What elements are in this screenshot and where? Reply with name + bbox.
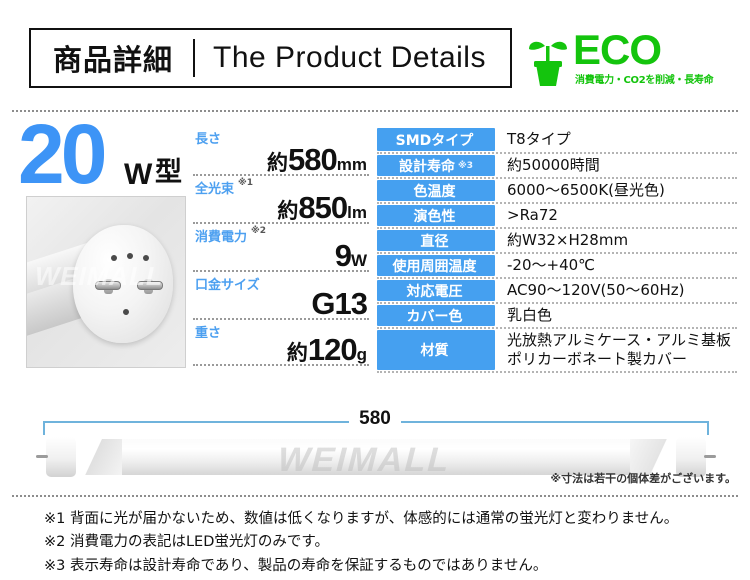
spec-footnote-ref: ※2 — [251, 226, 266, 236]
footnote-item: ※3 表示寿命は設計寿命であり、製品の寿命を保証するものではありません。 — [44, 555, 744, 578]
table-row: 設計寿命※3 約50000時間 — [377, 152, 737, 177]
table-row-value: AC90〜120V(50〜60Hz) — [495, 279, 737, 302]
table-row: SMDタイプ T8タイプ — [377, 127, 737, 152]
spec-value: 約850lm — [277, 192, 367, 223]
table-row-value: 約50000時間 — [495, 154, 737, 177]
dimension-label: 580 — [0, 408, 750, 430]
cap-hole — [123, 309, 129, 315]
table-row-label: 設計寿命※3 — [377, 155, 495, 176]
spec-item: 長さ 約580mm — [193, 126, 369, 174]
table-row: 色温度 6000〜6500K(昼光色) — [377, 177, 737, 202]
table-row-label: SMDタイプ — [377, 128, 495, 151]
eco-word: ECO — [573, 29, 661, 71]
footnote-item: ※1 背面に光が届かないため、数値は低くなりますが、体感的には通常の蛍光灯と変わ… — [44, 508, 744, 531]
table-row: 材質 光放熱アルミケース・アルミ基板 ポリカーボネート製カバー — [377, 327, 737, 373]
table-row-label: 色温度 — [377, 180, 495, 201]
spec-value: 約120g — [287, 334, 367, 365]
photo-watermark: WEIMALL — [32, 261, 167, 292]
title-divider — [193, 39, 195, 77]
spec-value: 9W — [335, 240, 367, 271]
table-row-value: >Ra72 — [495, 204, 737, 227]
wattage-type-suffix: 型 — [155, 159, 182, 186]
spec-value: G13 — [311, 288, 367, 319]
spec-item: 口金サイズ G13 — [193, 270, 369, 318]
spec-label: 全光束※1 — [195, 178, 253, 197]
primary-spec-list: 長さ 約580mm 全光束※1 約850lm 消費電力※2 9W 口金サイズ G… — [193, 126, 369, 366]
spec-item: 重さ 約120g — [193, 318, 369, 366]
eco-tagline: 消費電力・CO2を削減・長寿命 — [575, 71, 713, 86]
table-row: カバー色 乳白色 — [377, 302, 737, 327]
dimension-note: ※寸法は若干の個体差がございます。 — [550, 470, 736, 486]
eco-badge: ECO 消費電力・CO2を削減・長寿命 — [525, 33, 740, 89]
table-row-label: 使用周囲温度 — [377, 255, 495, 276]
table-row-label: 直径 — [377, 230, 495, 251]
spec-label: 長さ — [195, 128, 225, 147]
table-row-value: 乳白色 — [495, 304, 737, 327]
table-row-value: 約W32×H28mm — [495, 229, 737, 252]
tube-pin-right — [704, 455, 716, 458]
table-row: 演色性 >Ra72 — [377, 202, 737, 227]
product-photo: WEIMALL — [26, 196, 186, 368]
plant-pot-icon — [525, 35, 571, 87]
dimension-section: 580 WEIMALL ※寸法は若干の個体差がございます。 — [0, 388, 750, 488]
wattage-badge: 20 W 型 — [18, 126, 203, 198]
footnote-list: ※1 背面に光が届かないため、数値は低くなりますが、体感的には通常の蛍光灯と変わ… — [44, 508, 744, 578]
table-row-value: -20〜+40℃ — [495, 254, 737, 277]
spec-label: 消費電力※2 — [195, 226, 266, 245]
table-row: 対応電圧 AC90〜120V(50〜60Hz) — [377, 277, 737, 302]
cap-hole — [127, 253, 133, 259]
spec-item: 全光束※1 約850lm — [193, 174, 369, 222]
table-row: 直径 約W32×H28mm — [377, 227, 737, 252]
table-row-label: 対応電圧 — [377, 280, 495, 301]
table-row-value: 6000〜6500K(昼光色) — [495, 179, 737, 202]
table-row-label: 演色性 — [377, 205, 495, 226]
table-row-label: 材質 — [377, 330, 495, 370]
tube-pin-left — [36, 455, 48, 458]
spec-item: 消費電力※2 9W — [193, 222, 369, 270]
divider-top — [12, 110, 738, 112]
spec-label: 口金サイズ — [195, 274, 264, 293]
table-row-label: カバー色 — [377, 305, 495, 326]
page-title-jp: 商品詳細 — [31, 37, 173, 79]
table-row-value: 光放熱アルミケース・アルミ基板 ポリカーボネート製カバー — [495, 329, 737, 371]
spec-label: 重さ — [195, 322, 225, 341]
tube-end-cap-left — [46, 437, 76, 477]
table-row: 使用周囲温度 -20〜+40℃ — [377, 252, 737, 277]
wattage-unit: W — [124, 160, 152, 190]
spec-value: 約580mm — [267, 144, 367, 175]
wattage-number: 20 — [18, 112, 103, 196]
divider-bottom — [12, 495, 738, 497]
footnote-item: ※2 消費電力の表記はLED蛍光灯のみです。 — [44, 531, 744, 554]
spec-footnote-ref: ※1 — [238, 178, 253, 188]
page-header: 商品詳細 The Product Details ECO 消費電力・CO2を削減… — [0, 0, 750, 100]
tube-bevel-left — [70, 439, 122, 475]
title-box: 商品詳細 The Product Details — [29, 28, 512, 88]
page-title-en: The Product Details — [213, 41, 486, 75]
table-row-value: T8タイプ — [495, 127, 737, 152]
spec-table: SMDタイプ T8タイプ 設計寿命※3 約50000時間 色温度 6000〜65… — [377, 127, 737, 373]
